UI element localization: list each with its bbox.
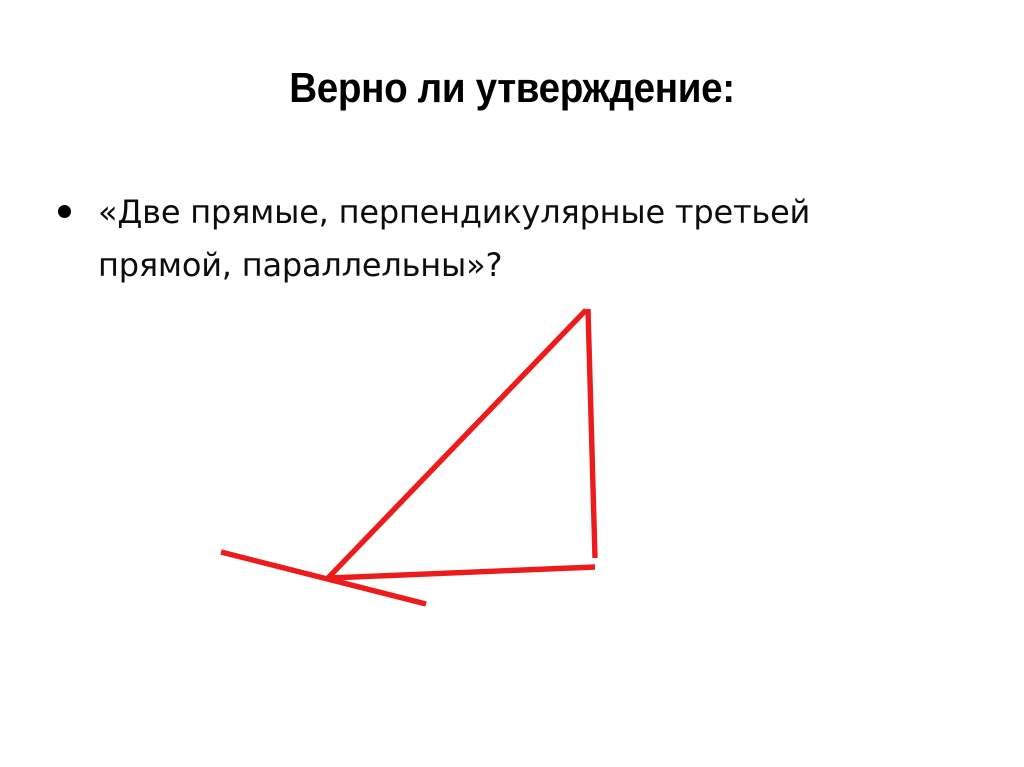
statement-line-2: прямой, параллельны»? [98,239,950,292]
bullet-point-icon [58,205,71,218]
list-item: «Две прямые, перпендикулярные третьей пр… [50,186,950,292]
slide-canvas: Верно ли утверждение: «Две прямые, перпе… [0,0,1024,767]
page-title: Верно ли утверждение: [41,66,983,110]
bullet-list: «Две прямые, перпендикулярные третьей пр… [50,186,950,292]
transversal-crossing-line [221,552,426,604]
statement-line-1: «Две прямые, перпендикулярные третьей [98,186,950,239]
hypotenuse-diagonal-line [328,310,586,578]
right-vertical-line [588,309,595,558]
geometry-diagram [0,0,1024,767]
bottom-horizontal-line [330,567,595,578]
